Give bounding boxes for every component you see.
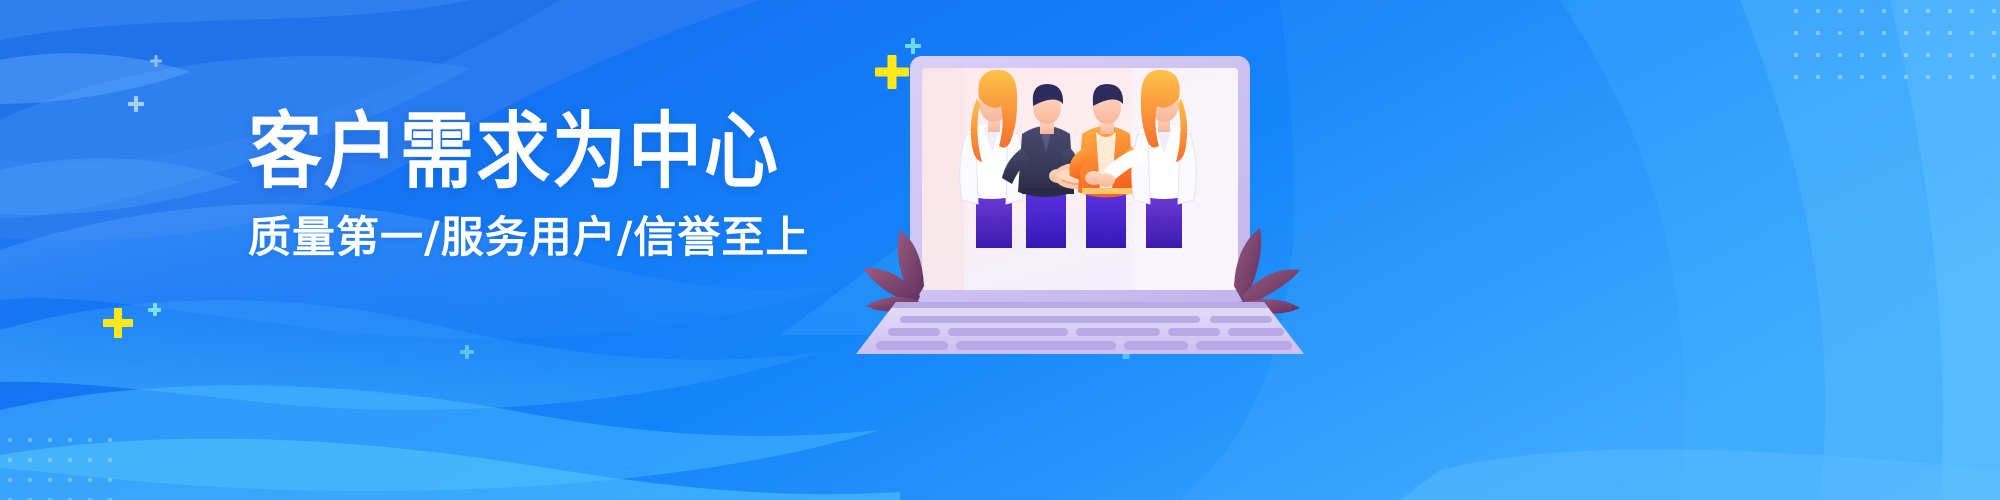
plus-white-left-icon [128,96,144,112]
plus-yellow-bottom-icon [103,308,133,338]
laptop-team-illustration [880,36,1320,366]
page-title: 客户需求为中心 [248,104,868,200]
page-subtitle: 质量第一/服务用户/信誉至上 [248,212,868,264]
promo-banner: 客户需求为中心 质量第一/服务用户/信誉至上 [0,0,2000,500]
dot-grid-bottom-left [0,430,120,500]
laptop-keyboard [856,302,1304,354]
plus-cyan-right-icon [460,345,474,359]
plus-cyan-bottom-icon [148,303,161,316]
headline-block: 客户需求为中心 质量第一/服务用户/信誉至上 [248,104,868,264]
plus-white-mid-icon [150,55,162,67]
dot-grid-top-right [1785,0,2000,95]
